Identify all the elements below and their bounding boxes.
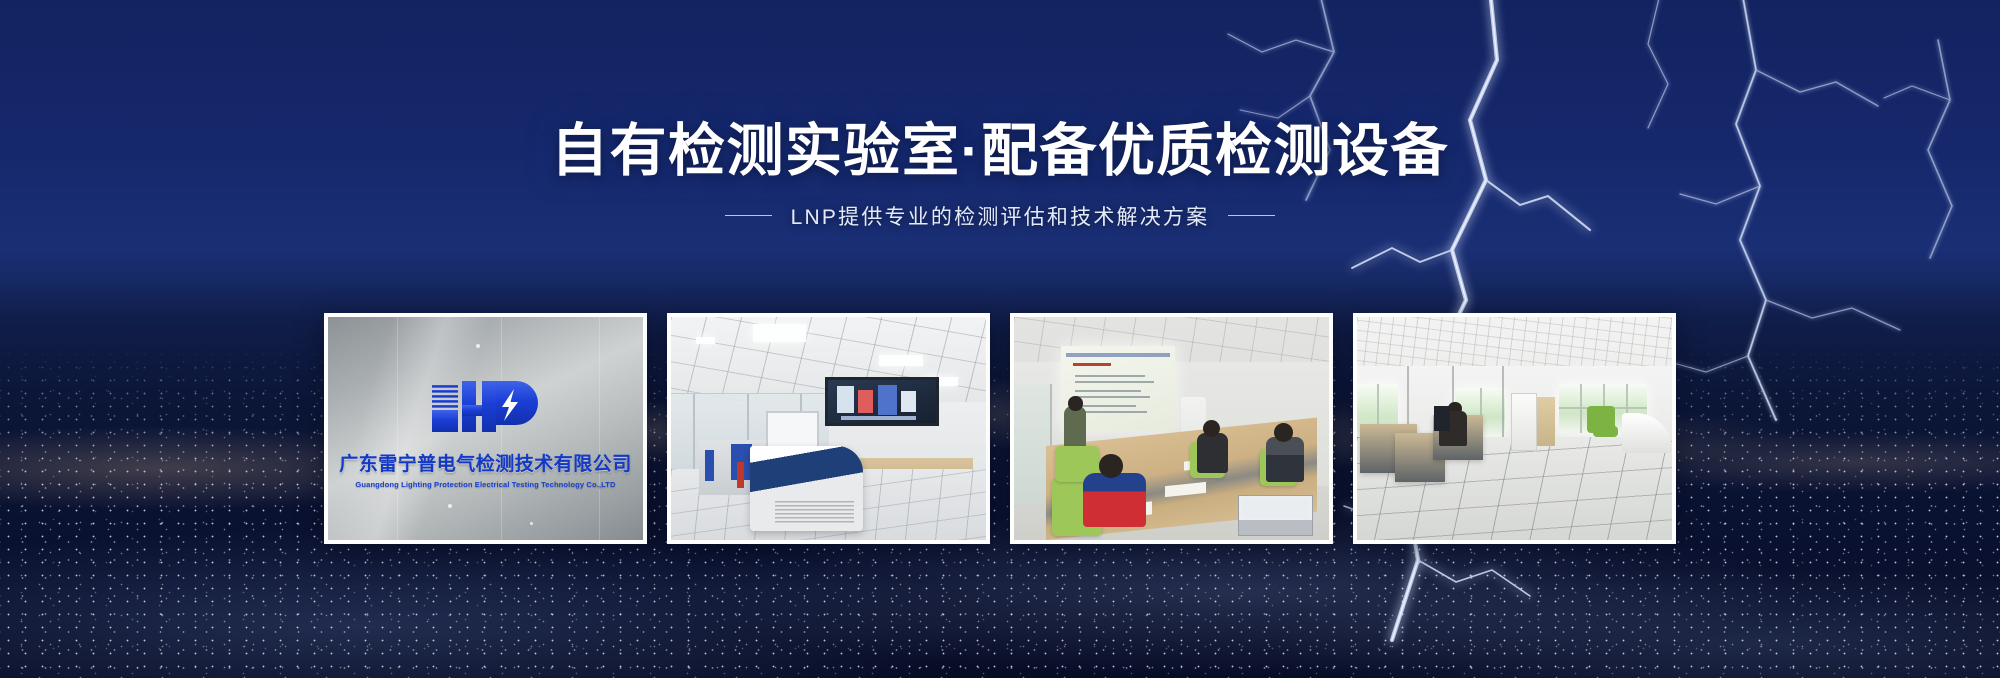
console-monitor: [766, 411, 820, 451]
horizontal-rule-right-icon: [1228, 215, 1275, 216]
hero-text-block: 自有检测实验室·配备优质检测设备 LNP提供专业的检测评估和技术解决方案: [0, 120, 2000, 231]
attendee-body: [1266, 437, 1304, 482]
laptop-screen: [1243, 499, 1308, 517]
slide-line: [1075, 381, 1154, 383]
console-vents: [775, 501, 854, 523]
gallery-photo-office-workspace[interactable]: [1353, 313, 1676, 544]
tall-cabinet: [1511, 393, 1536, 451]
office-workspace-image: [1357, 317, 1672, 540]
slide-heading: [1073, 363, 1112, 366]
visitor-chair-seat: [1593, 426, 1618, 437]
panel-seam: [599, 317, 600, 540]
slide-line: [1075, 396, 1150, 398]
glass-partition-mullion: [1502, 366, 1504, 437]
light-speck: [476, 344, 480, 348]
wall-monitor: [825, 377, 938, 426]
sign-company-name-cn: 广东雷宁普电气检测技术有限公司: [339, 449, 632, 476]
gallery-photo-testing-laboratory[interactable]: [667, 313, 990, 544]
ceiling-lamp: [753, 324, 807, 342]
wooden-shelf: [1537, 397, 1556, 446]
attendee-head: [1099, 454, 1123, 477]
glass-mullion: [693, 394, 695, 478]
laptop: [1238, 495, 1314, 535]
attendee-head: [1274, 423, 1293, 442]
sign-company-name-en: Guangdong Lighting Protection Electrical…: [355, 480, 615, 489]
light-speck: [530, 522, 533, 525]
slide-line: [1075, 405, 1136, 407]
attendee-body: [1083, 473, 1146, 527]
panel-seam: [397, 317, 398, 540]
meeting-room-image: [1014, 317, 1329, 540]
slide-line: [1075, 375, 1145, 377]
ceiling: [1357, 317, 1672, 371]
hero-subtitle-row: LNP提供专业的检测评估和技术解决方案: [0, 201, 2000, 231]
attendee-body: [1197, 433, 1229, 473]
lnp-logo-icon: [430, 375, 542, 437]
page-title: 自有检测实验室·配备优质检测设备: [0, 120, 2000, 184]
horizontal-rule-left-icon: [725, 215, 772, 216]
testing-laboratory-image: [671, 317, 986, 540]
gallery-photo-company-logo-sign[interactable]: 广东雷宁普电气检测技术有限公司 Guangdong Lighting Prote…: [324, 313, 647, 544]
control-console: [750, 446, 863, 531]
hero-subtitle: LNP提供专业的检测评估和技术解决方案: [791, 201, 1210, 231]
ceiling-lamp: [696, 337, 715, 344]
presenter-head: [1068, 396, 1082, 411]
photo-gallery: 广东雷宁普电气检测技术有限公司 Guangdong Lighting Prote…: [324, 313, 1676, 544]
desktop-monitor: [1434, 406, 1450, 431]
gallery-photo-meeting-room[interactable]: [1010, 313, 1333, 544]
company-logo-sign-image: 广东雷宁普电气检测技术有限公司 Guangdong Lighting Prote…: [328, 317, 643, 540]
slide-title-bar: [1066, 353, 1170, 357]
slide-line: [1075, 390, 1141, 392]
hero-banner: 自有检测实验室·配备优质检测设备 LNP提供专业的检测评估和技术解决方案: [0, 0, 2000, 678]
ceiling-lamp: [879, 355, 923, 366]
